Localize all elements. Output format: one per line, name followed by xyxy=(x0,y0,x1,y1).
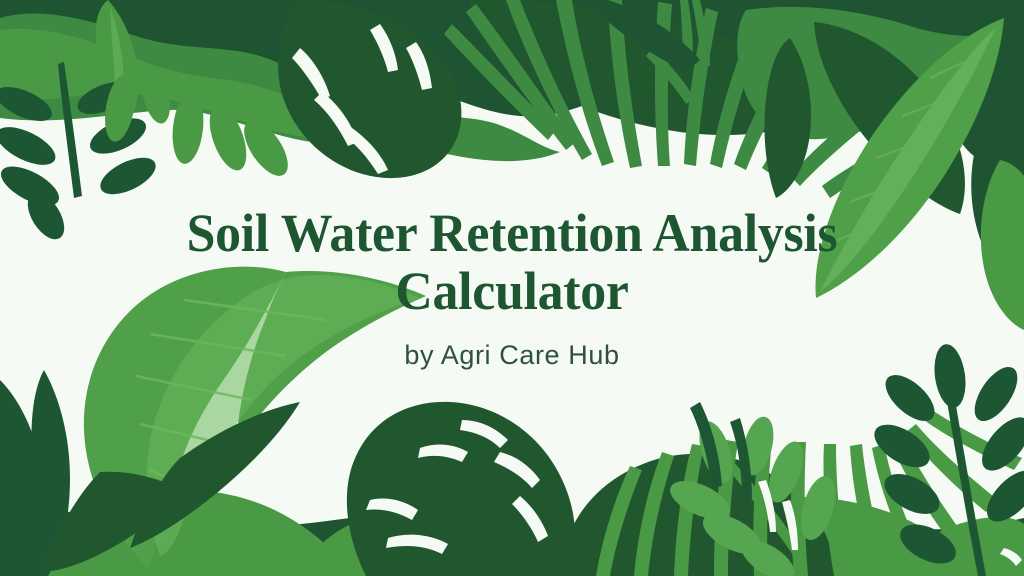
tropical-foliage-frame xyxy=(0,0,1024,576)
slide-canvas: Soil Water Retention Analysis Calculator… xyxy=(0,0,1024,576)
